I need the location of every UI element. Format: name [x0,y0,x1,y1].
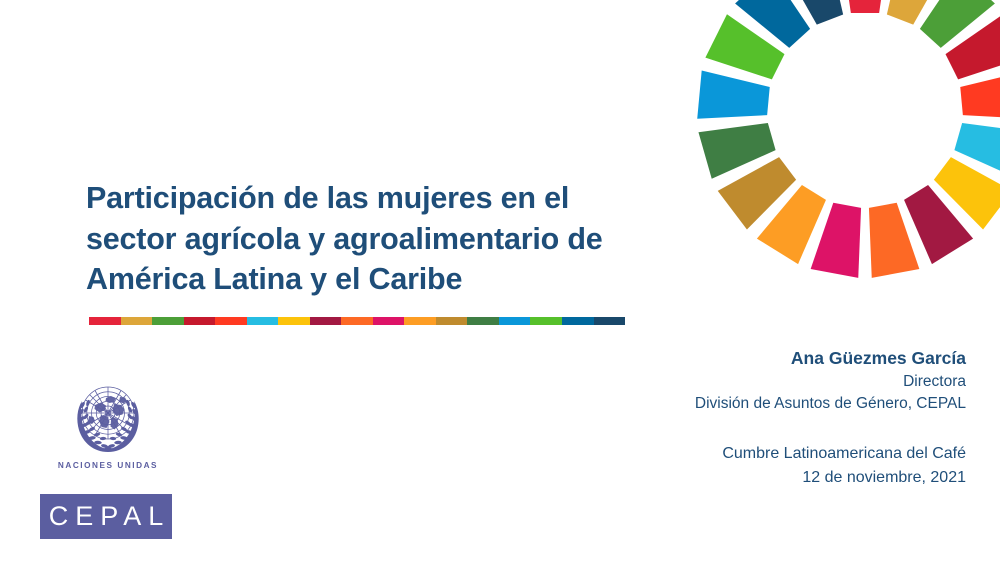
sdg-wheel-segment [697,71,770,119]
sdg-wheel-segment [960,71,1000,119]
sdg-wheel-segment [811,203,861,278]
sdg-color-bar-segment [562,317,594,325]
speaker-name: Ana Güezmes García [506,346,966,371]
sdg-wheel-segment [782,0,843,25]
title-block: Participación de las mujeres en el secto… [86,178,646,300]
cepal-wordmark: CEPAL [42,501,171,532]
sdg-wheel-segment [904,185,973,264]
united-nations-caption: NACIONES UNIDAS [46,461,170,470]
sdg-color-bar-segment [373,317,405,325]
sdg-color-bar [89,317,625,325]
event-date: 12 de noviembre, 2021 [506,466,966,490]
sdg-color-bar-segment [215,317,247,325]
cepal-logo: CEPAL [40,494,172,539]
event-block: Cumbre Latinoamericana del Café 12 de no… [506,442,966,490]
sdg-wheel-icon [693,0,1000,282]
event-name: Cumbre Latinoamericana del Café [506,442,966,466]
speaker-division: División de Asuntos de Género, CEPAL [506,393,966,415]
presentation-slide: Participación de las mujeres en el secto… [0,0,1000,562]
page-title: Participación de las mujeres en el secto… [86,178,646,300]
sdg-color-bar-segment [467,317,499,325]
credits-block: Ana Güezmes García Directora División de… [506,346,966,490]
sdg-color-bar-segment [184,317,216,325]
sdg-wheel-segment [946,14,1000,79]
sdg-wheel-segment [920,0,995,48]
sdg-wheel-segment [934,157,1000,229]
sdg-color-bar-segment [499,317,531,325]
united-nations-logo: NACIONES UNIDAS [46,378,170,470]
sdg-color-bar-segment [404,317,436,325]
sdg-color-bar-segment [121,317,153,325]
sdg-color-bar-segment [594,317,626,325]
sdg-color-bar-segment [310,317,342,325]
united-nations-emblem-icon [58,378,158,460]
sdg-color-bar-segment [436,317,468,325]
sdg-wheel-segment [698,123,775,179]
sdg-wheel-segment [887,0,948,25]
sdg-color-bar-segment [278,317,310,325]
sdg-wheel-segment [841,0,889,13]
sdg-wheel-segment [954,123,1000,179]
sdg-color-bar-segment [341,317,373,325]
sdg-color-bar-segment [530,317,562,325]
speaker-role: Directora [506,371,966,393]
sdg-wheel-segment [705,14,784,79]
sdg-wheel-segment [869,203,919,278]
sdg-color-bar-segment [152,317,184,325]
sdg-color-bar-segment [247,317,279,325]
sdg-wheel-segment [718,157,796,229]
sdg-wheel-logo [693,0,1000,282]
sdg-color-bar-segment [89,317,121,325]
sdg-wheel-segment [757,185,826,264]
sdg-wheel-segment [735,0,810,48]
